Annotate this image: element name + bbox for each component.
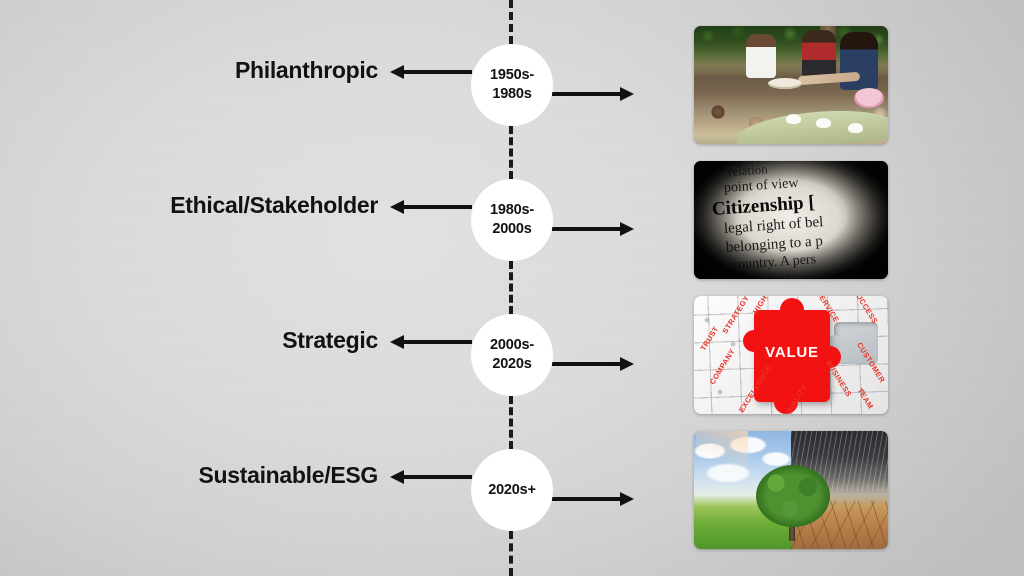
arrow-right-head-icon (620, 492, 634, 506)
timeline-spine-segment-2 (509, 261, 513, 314)
arrow-right-sustainable-esg (552, 491, 634, 507)
era-label-strategic: Strategic (282, 327, 378, 354)
arrow-left-shaft (400, 475, 472, 479)
timeline-node-period-strategic: 2000s- 2020s (490, 336, 534, 373)
timeline-node-sustainable-esg[interactable]: 2020s+ (471, 449, 553, 531)
food-bowl (816, 118, 831, 128)
slide-canvas: Philanthropic 1950s- 1980s Volunteers se… (0, 0, 1024, 576)
arrow-right-head-icon (620, 87, 634, 101)
timeline-node-period-sustainable-esg: 2020s+ (488, 481, 536, 500)
food-bowl (786, 114, 801, 124)
arrow-left-philanthropic (390, 64, 472, 80)
arrow-left-shaft (400, 205, 472, 209)
arrow-right-head-icon (620, 222, 634, 236)
vignette-overlay (694, 161, 888, 279)
arrow-left-shaft (400, 70, 472, 74)
stage-image-ethical-stakeholder[interactable]: relation point of view Citizenship [ leg… (694, 161, 888, 279)
puzzle-red-knob-top (780, 298, 804, 322)
sun-rays (696, 431, 748, 471)
timeline-spine-segment-bottom (509, 531, 513, 576)
child-pink-hat (854, 88, 884, 108)
timeline-node-period-philanthropic: 1950s- 1980s (490, 66, 534, 103)
era-label-sustainable-esg: Sustainable/ESG (198, 462, 378, 489)
arrow-right-strategic (552, 356, 634, 372)
puzzle-center-word: VALUE (754, 344, 830, 361)
timeline-node-philanthropic[interactable]: 1950s- 1980s (471, 44, 553, 126)
arrow-left-ethical-stakeholder (390, 199, 472, 215)
era-label-ethical-stakeholder: Ethical/Stakeholder (170, 192, 378, 219)
timeline-node-ethical-stakeholder[interactable]: 1980s- 2000s (471, 179, 553, 261)
timeline-node-period-ethical-stakeholder: 1980s- 2000s (490, 201, 534, 238)
arrow-right-shaft (552, 92, 624, 96)
serving-table (735, 105, 888, 144)
arrow-right-philanthropic (552, 86, 634, 102)
citizenship-dictionary-photo: relation point of view Citizenship [ leg… (694, 161, 888, 279)
arrow-right-shaft (552, 362, 624, 366)
arrow-right-ethical-stakeholder (552, 221, 634, 237)
arrow-left-shaft (400, 340, 472, 344)
timeline-spine-segment-top (509, 0, 513, 44)
food-bowl (848, 123, 863, 133)
stage-image-strategic[interactable]: VALUE TRUST STRATEGY HIGH SERVICE SUCCES… (694, 296, 888, 414)
charity-meal-photo (694, 26, 888, 144)
timeline-node-strategic[interactable]: 2000s- 2020s (471, 314, 553, 396)
timeline-spine-segment-3 (509, 396, 513, 449)
stage-image-philanthropic[interactable]: Volunteers serving food to children outd… (694, 26, 888, 144)
volunteer-red-shirt (802, 30, 836, 78)
arrow-left-strategic (390, 334, 472, 350)
climate-split-photo (694, 431, 888, 549)
tree-canopy (756, 465, 830, 527)
volunteer-white-shirt (746, 34, 776, 78)
arrow-left-sustainable-esg (390, 469, 472, 485)
era-label-philanthropic: Philanthropic (235, 57, 378, 84)
arrow-right-shaft (552, 227, 624, 231)
stage-image-sustainable-esg[interactable]: Split image of a tree: lush green grass … (694, 431, 888, 549)
value-puzzle-photo: VALUE TRUST STRATEGY HIGH SERVICE SUCCES… (694, 296, 888, 414)
arrow-right-shaft (552, 497, 624, 501)
arrow-right-head-icon (620, 357, 634, 371)
timeline-spine-segment-1 (509, 126, 513, 179)
food-plate (768, 78, 802, 89)
